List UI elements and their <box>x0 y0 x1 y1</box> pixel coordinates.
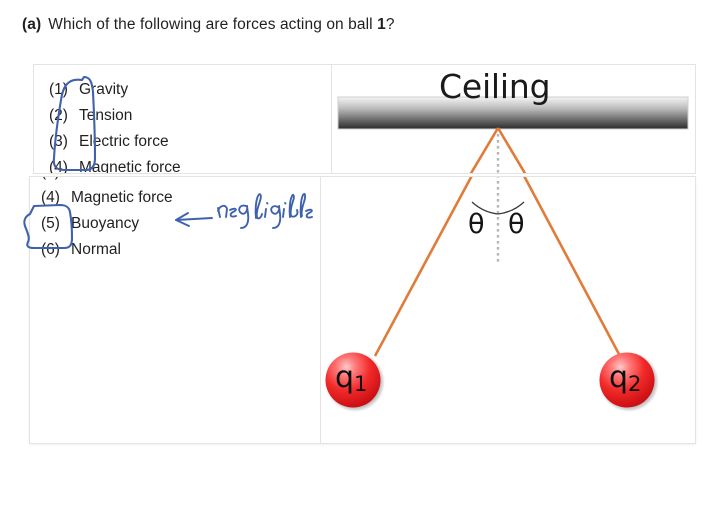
string-left <box>375 176 498 356</box>
question-label: (a) <box>22 16 41 33</box>
ball-right-label: q2 <box>609 360 641 396</box>
ball-right-subscript: 2 <box>628 372 641 396</box>
angle-label-left: θ <box>468 209 485 240</box>
string-left <box>470 128 498 174</box>
question-text-before: Which of the following are forces acting… <box>48 16 377 33</box>
string-right <box>498 176 620 356</box>
ball-left-symbol: q <box>335 360 354 395</box>
string-right <box>498 128 526 174</box>
question-prompt: (a)Which of the following are forces act… <box>22 16 395 34</box>
pendulum-diagram <box>30 177 696 444</box>
slide-layer-lower: (3)Electric force (4)Magnetic force (5)B… <box>29 176 696 444</box>
ceiling-label-upper: Ceiling <box>439 67 550 106</box>
question-text-after: ? <box>386 16 395 33</box>
angle-label-right: θ <box>508 209 525 240</box>
ball-right-symbol: q <box>609 360 628 395</box>
ball-left-label: q1 <box>335 360 367 396</box>
ball-left-subscript: 1 <box>354 372 367 396</box>
slide-layer-upper: (1)Gravity (2)Tension (3)Electric force … <box>33 64 696 174</box>
question-emphasis: 1 <box>377 16 386 33</box>
diagram-upper-part <box>34 65 696 174</box>
